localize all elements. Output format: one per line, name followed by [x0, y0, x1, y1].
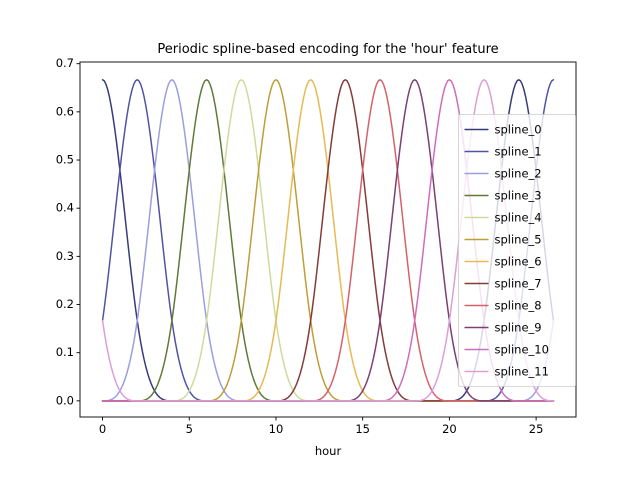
chart-canvas: 05101520250.00.10.20.30.40.50.60.7hourPe… — [0, 0, 640, 480]
x-tick-label-3: 15 — [355, 422, 370, 436]
legend-label-2: spline_2 — [495, 167, 542, 181]
y-tick-label-3: 0.3 — [56, 249, 74, 263]
x-tick-label-0: 0 — [99, 422, 106, 436]
legend-label-4: spline_4 — [495, 211, 542, 225]
y-tick-label-5: 0.5 — [56, 153, 74, 167]
chart-title: Periodic spline-based encoding for the '… — [157, 42, 498, 57]
x-axis-label: hour — [315, 444, 342, 458]
y-tick-label-4: 0.4 — [56, 201, 74, 215]
matplotlib-figure: 05101520250.00.10.20.30.40.50.60.7hourPe… — [0, 0, 640, 480]
legend-label-8: spline_8 — [495, 299, 542, 313]
x-tick-label-4: 20 — [442, 422, 457, 436]
x-tick-label-5: 25 — [529, 422, 544, 436]
legend-label-9: spline_9 — [495, 321, 542, 335]
legend-label-0: spline_0 — [495, 123, 542, 137]
x-tick-label-1: 5 — [186, 422, 193, 436]
legend-label-7: spline_7 — [495, 277, 542, 291]
legend-label-3: spline_3 — [495, 189, 542, 203]
legend-label-10: spline_10 — [495, 343, 549, 357]
legend-label-1: spline_1 — [495, 145, 542, 159]
legend-label-6: spline_6 — [495, 255, 542, 269]
legend-label-11: spline_11 — [495, 365, 549, 379]
y-tick-label-2: 0.2 — [56, 297, 74, 311]
x-tick-label-2: 10 — [269, 422, 284, 436]
legend-label-5: spline_5 — [495, 233, 542, 247]
y-tick-label-6: 0.6 — [56, 104, 74, 118]
y-tick-label-0: 0.0 — [56, 393, 74, 407]
y-tick-label-7: 0.7 — [56, 56, 74, 70]
y-tick-label-1: 0.1 — [56, 345, 74, 359]
